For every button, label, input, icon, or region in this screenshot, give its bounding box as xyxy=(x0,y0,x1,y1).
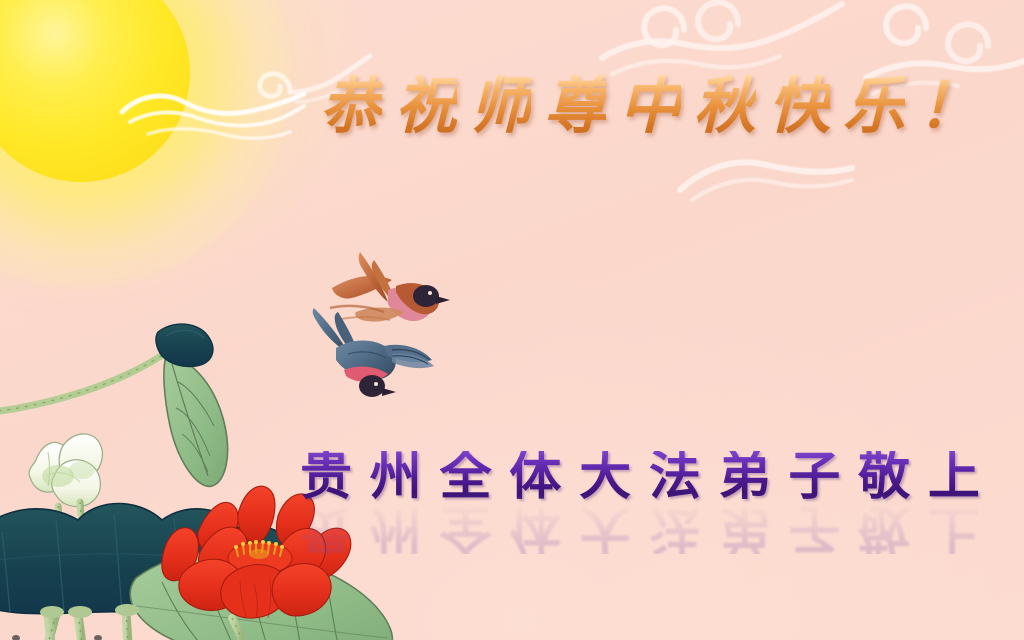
signature-reflection-char-9: 上 xyxy=(928,502,980,554)
headline-char-6: 快 xyxy=(768,75,830,137)
lotus-folded-leaf xyxy=(156,324,228,486)
headline-char-0: 恭 xyxy=(320,75,382,137)
headline-greeting: 恭 祝 师 尊 中 秋 快 乐 ！ xyxy=(320,68,980,144)
signature-char-2: 全 xyxy=(440,451,492,503)
greeting-card: 恭 祝 师 尊 中 秋 快 乐 ！ 贵 州 全 体 大 法 弟 子 敬 上 贵 … xyxy=(0,0,1024,640)
signature-char-9: 上 xyxy=(928,451,980,503)
headline-char-7: 乐 xyxy=(843,75,905,137)
lotus-stem-upper xyxy=(0,354,164,414)
signature-char-3: 体 xyxy=(509,451,561,503)
signature-char-0: 贵 xyxy=(300,451,352,503)
headline-char-2: 师 xyxy=(469,75,531,137)
signature-reflection-char-4: 大 xyxy=(579,502,631,554)
signature-char-8: 敬 xyxy=(858,451,910,503)
signature-reflection-char-7: 子 xyxy=(788,502,840,554)
headline-char-4: 中 xyxy=(619,75,681,137)
signature-reflection: 贵 州 全 体 大 法 弟 子 敬 上 xyxy=(300,500,980,554)
signature-reflection-char-3: 体 xyxy=(509,502,561,554)
signature-reflection-char-6: 弟 xyxy=(719,502,771,554)
signature-reflection-char-1: 州 xyxy=(370,502,422,554)
signature-reflection-char-2: 全 xyxy=(440,502,492,554)
signature-char-1: 州 xyxy=(370,451,422,503)
swallow-upper xyxy=(330,252,450,322)
signature-reflection-char-5: 法 xyxy=(649,502,701,554)
headline-char-1: 祝 xyxy=(395,75,457,137)
signature-line: 贵 州 全 体 大 法 弟 子 敬 上 xyxy=(300,446,980,508)
signature-char-5: 法 xyxy=(649,451,701,503)
headline-char-3: 尊 xyxy=(544,75,606,137)
headline-char-8: ！ xyxy=(918,75,980,137)
headline-char-5: 秋 xyxy=(694,75,756,137)
flying-swallows-illustration xyxy=(296,242,456,412)
signature-reflection-char-0: 贵 xyxy=(300,502,352,554)
signature-char-4: 大 xyxy=(579,451,631,503)
signature-char-7: 子 xyxy=(788,451,840,503)
signature-char-6: 弟 xyxy=(719,451,771,503)
signature-reflection-char-8: 敬 xyxy=(858,502,910,554)
